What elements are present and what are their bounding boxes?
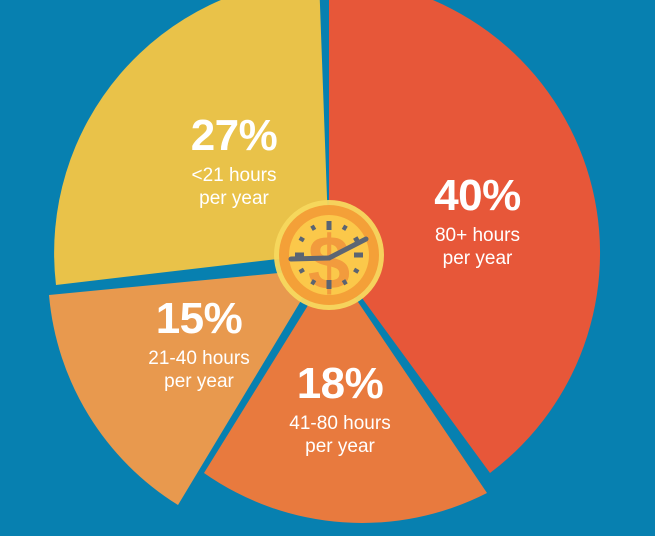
infographic-canvas: $ 40% 80+ hours per y xyxy=(0,0,655,536)
dollar-clock-icon: $ xyxy=(274,200,384,310)
pie-chart: $ xyxy=(0,0,655,536)
clock-hour-hand xyxy=(291,258,329,259)
dollar-sign-icon: $ xyxy=(308,221,350,306)
